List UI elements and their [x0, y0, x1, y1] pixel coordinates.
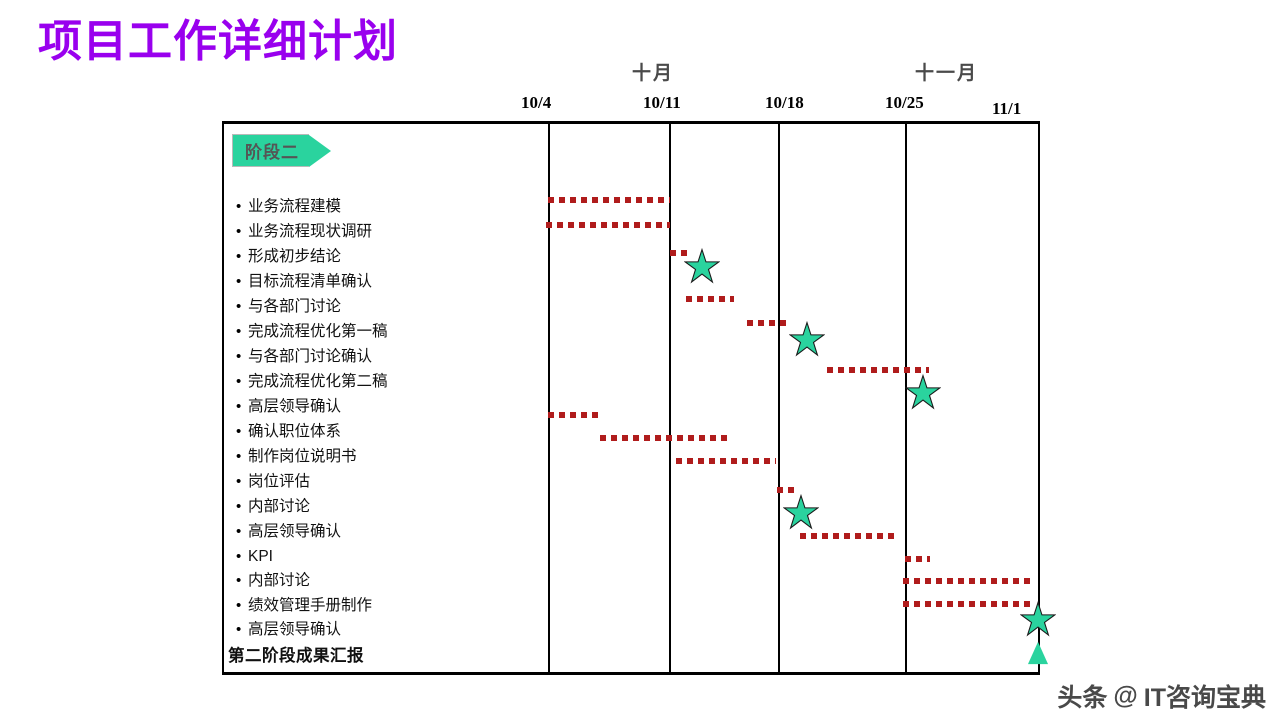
task-label-text: 业务流程建模 — [248, 198, 341, 215]
bullet-icon: • — [236, 399, 248, 414]
gridline-4 — [1038, 121, 1040, 672]
gridline-0 — [548, 121, 550, 672]
task-label-text: 形成初步结论 — [248, 248, 341, 265]
task-label-14[interactable]: •KPI — [236, 549, 273, 565]
task-label-text: 高层领导确认 — [248, 621, 341, 638]
bullet-icon: • — [236, 449, 248, 464]
milestone-star-icon-0[interactable] — [684, 248, 720, 284]
bullet-icon: • — [236, 299, 248, 314]
task-label-0[interactable]: •业务流程建模 — [236, 199, 341, 215]
task-label-text: 绩效管理手册制作 — [248, 597, 372, 614]
bullet-icon: • — [236, 474, 248, 489]
watermark-brand: 头条 — [1057, 678, 1107, 714]
task-label-4[interactable]: •与各部门讨论 — [236, 299, 341, 315]
date-tick-10-11: 10/11 — [643, 93, 681, 113]
gantt-bar-5[interactable] — [827, 367, 929, 373]
gantt-bar-13[interactable] — [903, 601, 1031, 607]
task-label-text: 内部讨论 — [248, 498, 310, 515]
gantt-bar-3[interactable] — [686, 296, 734, 302]
task-label-12[interactable]: •内部讨论 — [236, 499, 310, 515]
milestone-star-icon-4[interactable] — [1020, 601, 1056, 637]
phase-badge-label: 阶段二 — [245, 138, 299, 163]
task-label-text: 目标流程清单确认 — [248, 273, 372, 290]
task-label-11[interactable]: •岗位评估 — [236, 474, 310, 490]
date-tick-10-25: 10/25 — [885, 93, 924, 113]
gantt-bar-6[interactable] — [548, 412, 598, 418]
frame-top-border — [222, 121, 1040, 124]
task-label-6[interactable]: •与各部门讨论确认 — [236, 349, 372, 365]
gantt-bar-10[interactable] — [800, 533, 897, 539]
gantt-bar-12[interactable] — [903, 578, 1031, 584]
task-label-text: 高层领导确认 — [248, 398, 341, 415]
task-label-text: 制作岗位说明书 — [248, 448, 357, 465]
bullet-icon: • — [236, 524, 248, 539]
milestone-star-icon-3[interactable] — [783, 494, 819, 530]
task-label-8[interactable]: •高层领导确认 — [236, 399, 341, 415]
gantt-bar-1[interactable] — [546, 222, 670, 228]
phase-badge[interactable]: 阶段二 — [232, 134, 331, 167]
deliverable-triangle-icon[interactable] — [1027, 641, 1049, 665]
task-label-text: 与各部门讨论 — [248, 298, 341, 315]
task-label-text: 完成流程优化第二稿 — [248, 373, 388, 390]
bullet-icon: • — [236, 598, 248, 613]
watermark-at-symbol: @ — [1113, 682, 1137, 711]
frame-bottom-border — [222, 672, 1040, 675]
bullet-icon: • — [236, 249, 248, 264]
gantt-bar-4[interactable] — [747, 320, 789, 326]
task-label-5[interactable]: •完成流程优化第一稿 — [236, 324, 388, 340]
task-label-text: 高层领导确认 — [248, 523, 341, 540]
task-label-text: 岗位评估 — [248, 473, 310, 490]
month-header-0: 十月 — [632, 58, 674, 85]
task-label-3[interactable]: •目标流程清单确认 — [236, 274, 372, 290]
task-label-text: 业务流程现状调研 — [248, 223, 372, 240]
task-label-text: 确认职位体系 — [248, 423, 341, 440]
gantt-bar-11[interactable] — [905, 556, 930, 562]
bullet-icon: • — [236, 374, 248, 389]
gantt-bar-0[interactable] — [548, 197, 670, 203]
frame-left-border — [222, 121, 224, 675]
milestone-star-icon-2[interactable] — [905, 374, 941, 410]
task-label-7[interactable]: •完成流程优化第二稿 — [236, 374, 388, 390]
summary-row-label: 第二阶段成果汇报 — [228, 648, 364, 665]
bullet-icon: • — [236, 349, 248, 364]
page-title: 项目工作详细计划 — [38, 18, 398, 66]
bullet-icon: • — [236, 324, 248, 339]
task-label-16[interactable]: •绩效管理手册制作 — [236, 598, 372, 614]
task-label-1[interactable]: •业务流程现状调研 — [236, 224, 372, 240]
gantt-bar-8[interactable] — [676, 458, 776, 464]
task-label-2[interactable]: •形成初步结论 — [236, 249, 341, 265]
task-label-17[interactable]: •高层领导确认 — [236, 622, 341, 638]
task-label-text: KPI — [248, 548, 273, 565]
gridline-1 — [669, 121, 671, 672]
watermark: 头条 @ IT咨询宝典 — [1057, 678, 1266, 714]
watermark-account: IT咨询宝典 — [1144, 678, 1266, 714]
task-label-15[interactable]: •内部讨论 — [236, 573, 310, 589]
date-tick-10-18: 10/18 — [765, 93, 804, 113]
bullet-icon: • — [236, 274, 248, 289]
task-label-text: 内部讨论 — [248, 572, 310, 589]
gantt-bar-9[interactable] — [777, 487, 799, 493]
gridline-2 — [778, 121, 780, 672]
bullet-icon: • — [236, 622, 248, 637]
milestone-star-icon-1[interactable] — [789, 321, 825, 357]
bullet-icon: • — [236, 224, 248, 239]
month-header-1: 十一月 — [915, 58, 978, 85]
task-label-13[interactable]: •高层领导确认 — [236, 524, 341, 540]
task-label-9[interactable]: •确认职位体系 — [236, 424, 341, 440]
gantt-bar-7[interactable] — [600, 435, 727, 441]
bullet-icon: • — [236, 199, 248, 214]
date-tick-11-1: 11/1 — [992, 99, 1021, 119]
task-label-text: 完成流程优化第一稿 — [248, 323, 388, 340]
bullet-icon: • — [236, 424, 248, 439]
phase-badge-body: 阶段二 — [232, 134, 309, 167]
bullet-icon: • — [236, 549, 248, 564]
task-label-10[interactable]: •制作岗位说明书 — [236, 449, 357, 465]
date-tick-10-4: 10/4 — [521, 93, 551, 113]
task-label-text: 与各部门讨论确认 — [248, 348, 372, 365]
bullet-icon: • — [236, 499, 248, 514]
bullet-icon: • — [236, 573, 248, 588]
phase-badge-arrow — [309, 135, 331, 167]
